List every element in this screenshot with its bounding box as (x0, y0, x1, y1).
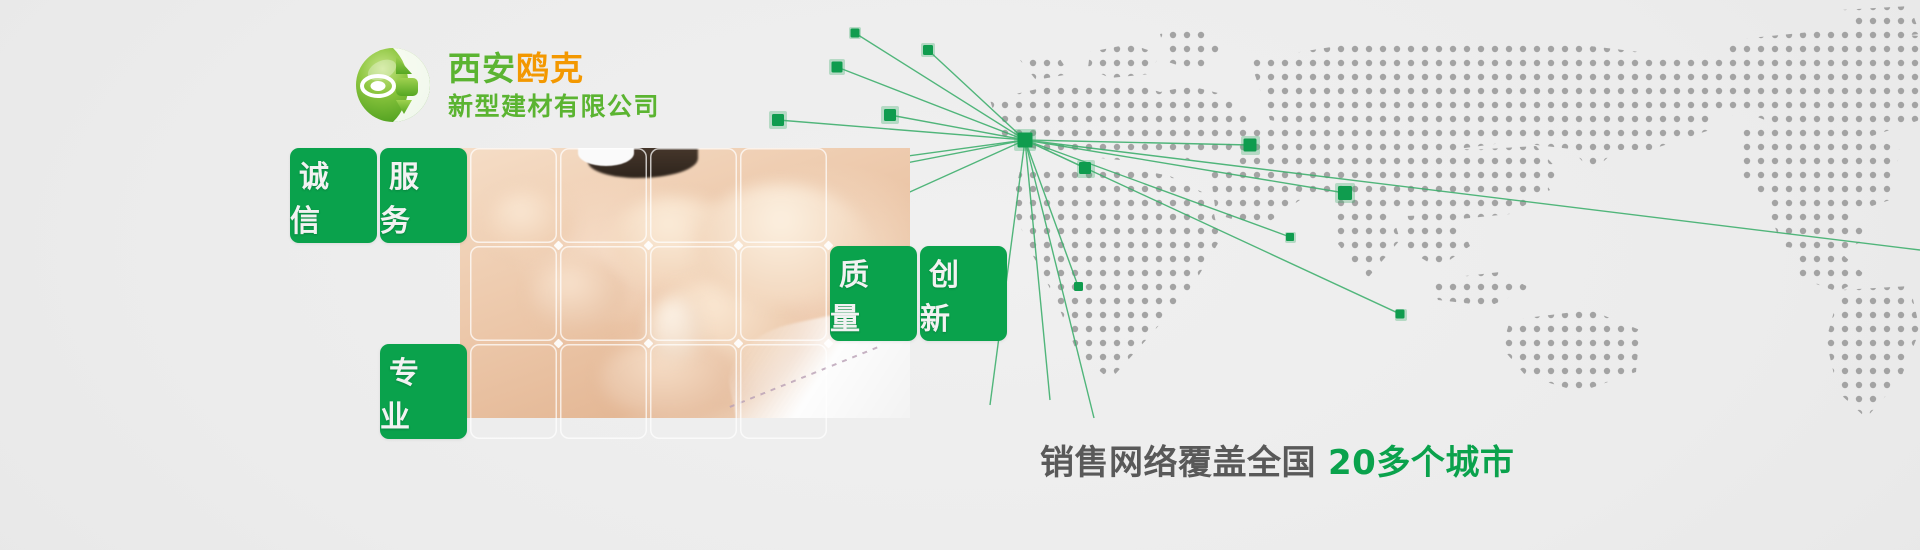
tile-zhiliang[interactable]: 质 量 (830, 246, 917, 341)
company-logo[interactable]: 西安鸥克 新型建材有限公司 (352, 44, 660, 126)
tile-chuangxin[interactable]: 创 新 (920, 246, 1007, 341)
logo-name-prefix: 西安 (448, 49, 516, 88)
tile-label: 诚 信 (290, 148, 377, 243)
logo-wordmark: 西安鸥克 新型建材有限公司 (448, 52, 660, 119)
tile-mosaic: 诚 信 服 务 质 量 创 新 专 业 (290, 148, 910, 418)
tile-label: 质 量 (830, 246, 917, 341)
tile-label: 创 新 (920, 246, 1007, 341)
logo-name-main: 鸥克 (516, 49, 584, 88)
tile-fuwu[interactable]: 服 务 (380, 148, 467, 243)
promo-banner: 西安鸥克 新型建材有限公司 诚 信 (0, 0, 1920, 550)
tagline-text: 销售网络覆盖全国 (1040, 443, 1316, 483)
tile-label: 专 业 (380, 344, 467, 439)
tile-chengxin[interactable]: 诚 信 (290, 148, 377, 243)
tagline-highlight: 20多个城市 (1328, 443, 1514, 483)
sales-network-tagline: 销售网络覆盖全国20多个城市 (1040, 435, 1514, 484)
tile-label: 服 务 (380, 148, 467, 243)
logo-name-sub: 新型建材有限公司 (448, 94, 660, 119)
green-globe-logo-icon (352, 44, 434, 126)
tile-zhuanye[interactable]: 专 业 (380, 344, 467, 439)
